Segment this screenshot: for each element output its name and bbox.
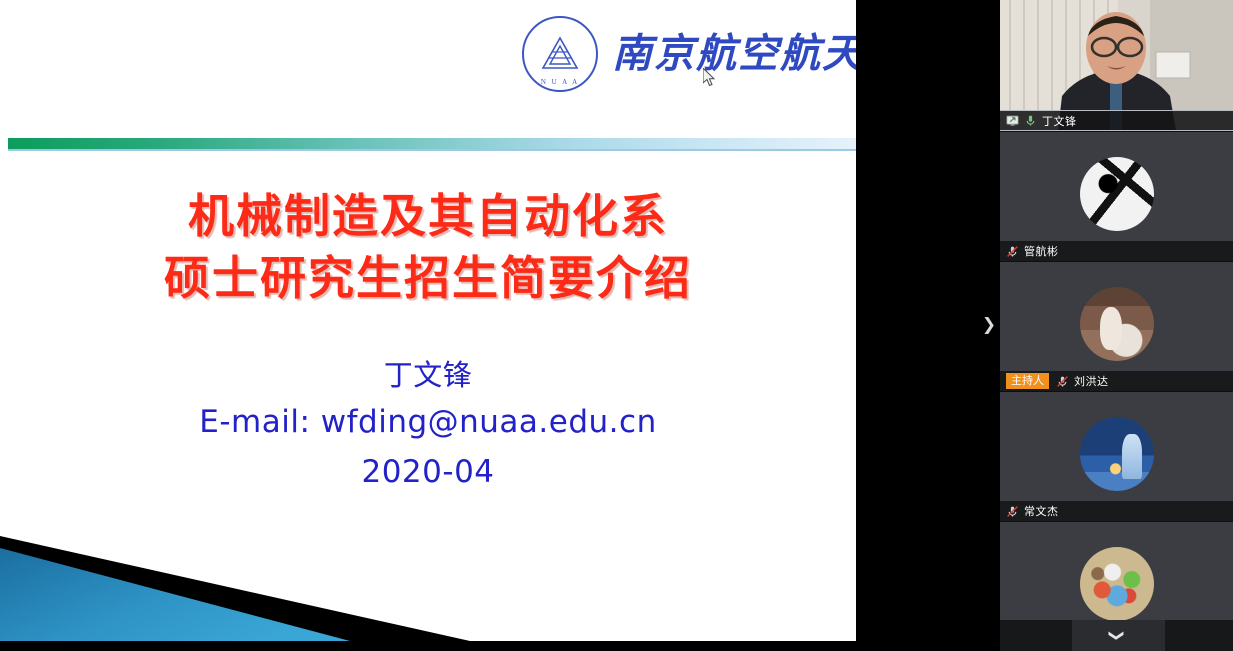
slide-header: N U A A 南京航空航天大学 [0, 0, 856, 131]
presenter-name: 丁文锋 [0, 352, 856, 398]
meeting-window: N U A A 南京航空航天大学 机械制造及其自 [0, 0, 1233, 651]
slide-title-block: 机械制造及其自动化系 硕士研究生招生简要介绍 [0, 185, 856, 309]
participant-tile[interactable]: 常文杰 [1000, 392, 1233, 522]
presentation-slide: N U A A 南京航空航天大学 机械制造及其自 [0, 0, 856, 641]
university-logo-group: N U A A 南京航空航天大学 [522, 16, 856, 92]
participant-name: 常文杰 [1024, 503, 1059, 519]
slide-title-line-1: 机械制造及其自动化系 [0, 185, 856, 247]
mic-muted-icon [1056, 375, 1069, 388]
participant-name: 刘洪达 [1074, 373, 1109, 389]
participant-tile-host[interactable]: 主持人 刘洪达 [1000, 262, 1233, 392]
participant-filmstrip[interactable]: 丁文锋 管航彬 主持人 [1000, 0, 1233, 651]
presentation-date: 2020-04 [0, 448, 856, 498]
participant-tile[interactable]: 管航彬 [1000, 132, 1233, 262]
crest-ring-text: N U A A [524, 78, 596, 86]
slide-decoration [0, 506, 470, 641]
slide-accent-underline [8, 149, 856, 151]
pagoda-glyph-icon [537, 34, 583, 74]
filmstrip-scroll-right-filler [1165, 620, 1233, 651]
university-name: 南京航空航天大学 [612, 34, 856, 74]
slide-subtitle-block: 丁文锋 E-mail: wfding@nuaa.edu.cn 2020-04 [0, 352, 856, 498]
participant-tile-active-speaker[interactable]: 丁文锋 [1000, 0, 1233, 132]
participant-label: 常文杰 [1000, 501, 1233, 521]
participant-avatar [1080, 287, 1154, 361]
participant-label: 主持人 刘洪达 [1000, 371, 1233, 391]
participant-label: 丁文锋 [1000, 110, 1233, 131]
slide-accent-bar [8, 138, 856, 149]
presenter-email: E-mail: wfding@nuaa.edu.cn [0, 398, 856, 448]
filmstrip-scroll-left-filler [1000, 620, 1072, 651]
screen-share-icon [1006, 114, 1019, 127]
filmstrip-scroll-down-button[interactable]: ❯ [1000, 620, 1233, 651]
mic-muted-icon [1006, 245, 1019, 258]
collapse-panel-chevron-right-icon[interactable]: ❯ [978, 310, 1000, 340]
mic-on-icon [1024, 114, 1037, 127]
participant-name: 管航彬 [1024, 243, 1059, 259]
participant-label: 管航彬 [1000, 241, 1233, 261]
participant-avatar [1080, 547, 1154, 621]
chevron-down-icon[interactable]: ❯ [1109, 629, 1124, 642]
participant-avatar [1080, 417, 1154, 491]
nuaa-crest-icon: N U A A [522, 16, 598, 92]
host-badge: 主持人 [1006, 373, 1049, 389]
participant-avatar [1080, 157, 1154, 231]
shared-screen-area[interactable]: N U A A 南京航空航天大学 机械制造及其自 [0, 0, 856, 651]
mic-muted-icon [1006, 505, 1019, 518]
slide-title-line-2: 硕士研究生招生简要介绍 [0, 247, 856, 309]
participant-name: 丁文锋 [1042, 113, 1077, 129]
